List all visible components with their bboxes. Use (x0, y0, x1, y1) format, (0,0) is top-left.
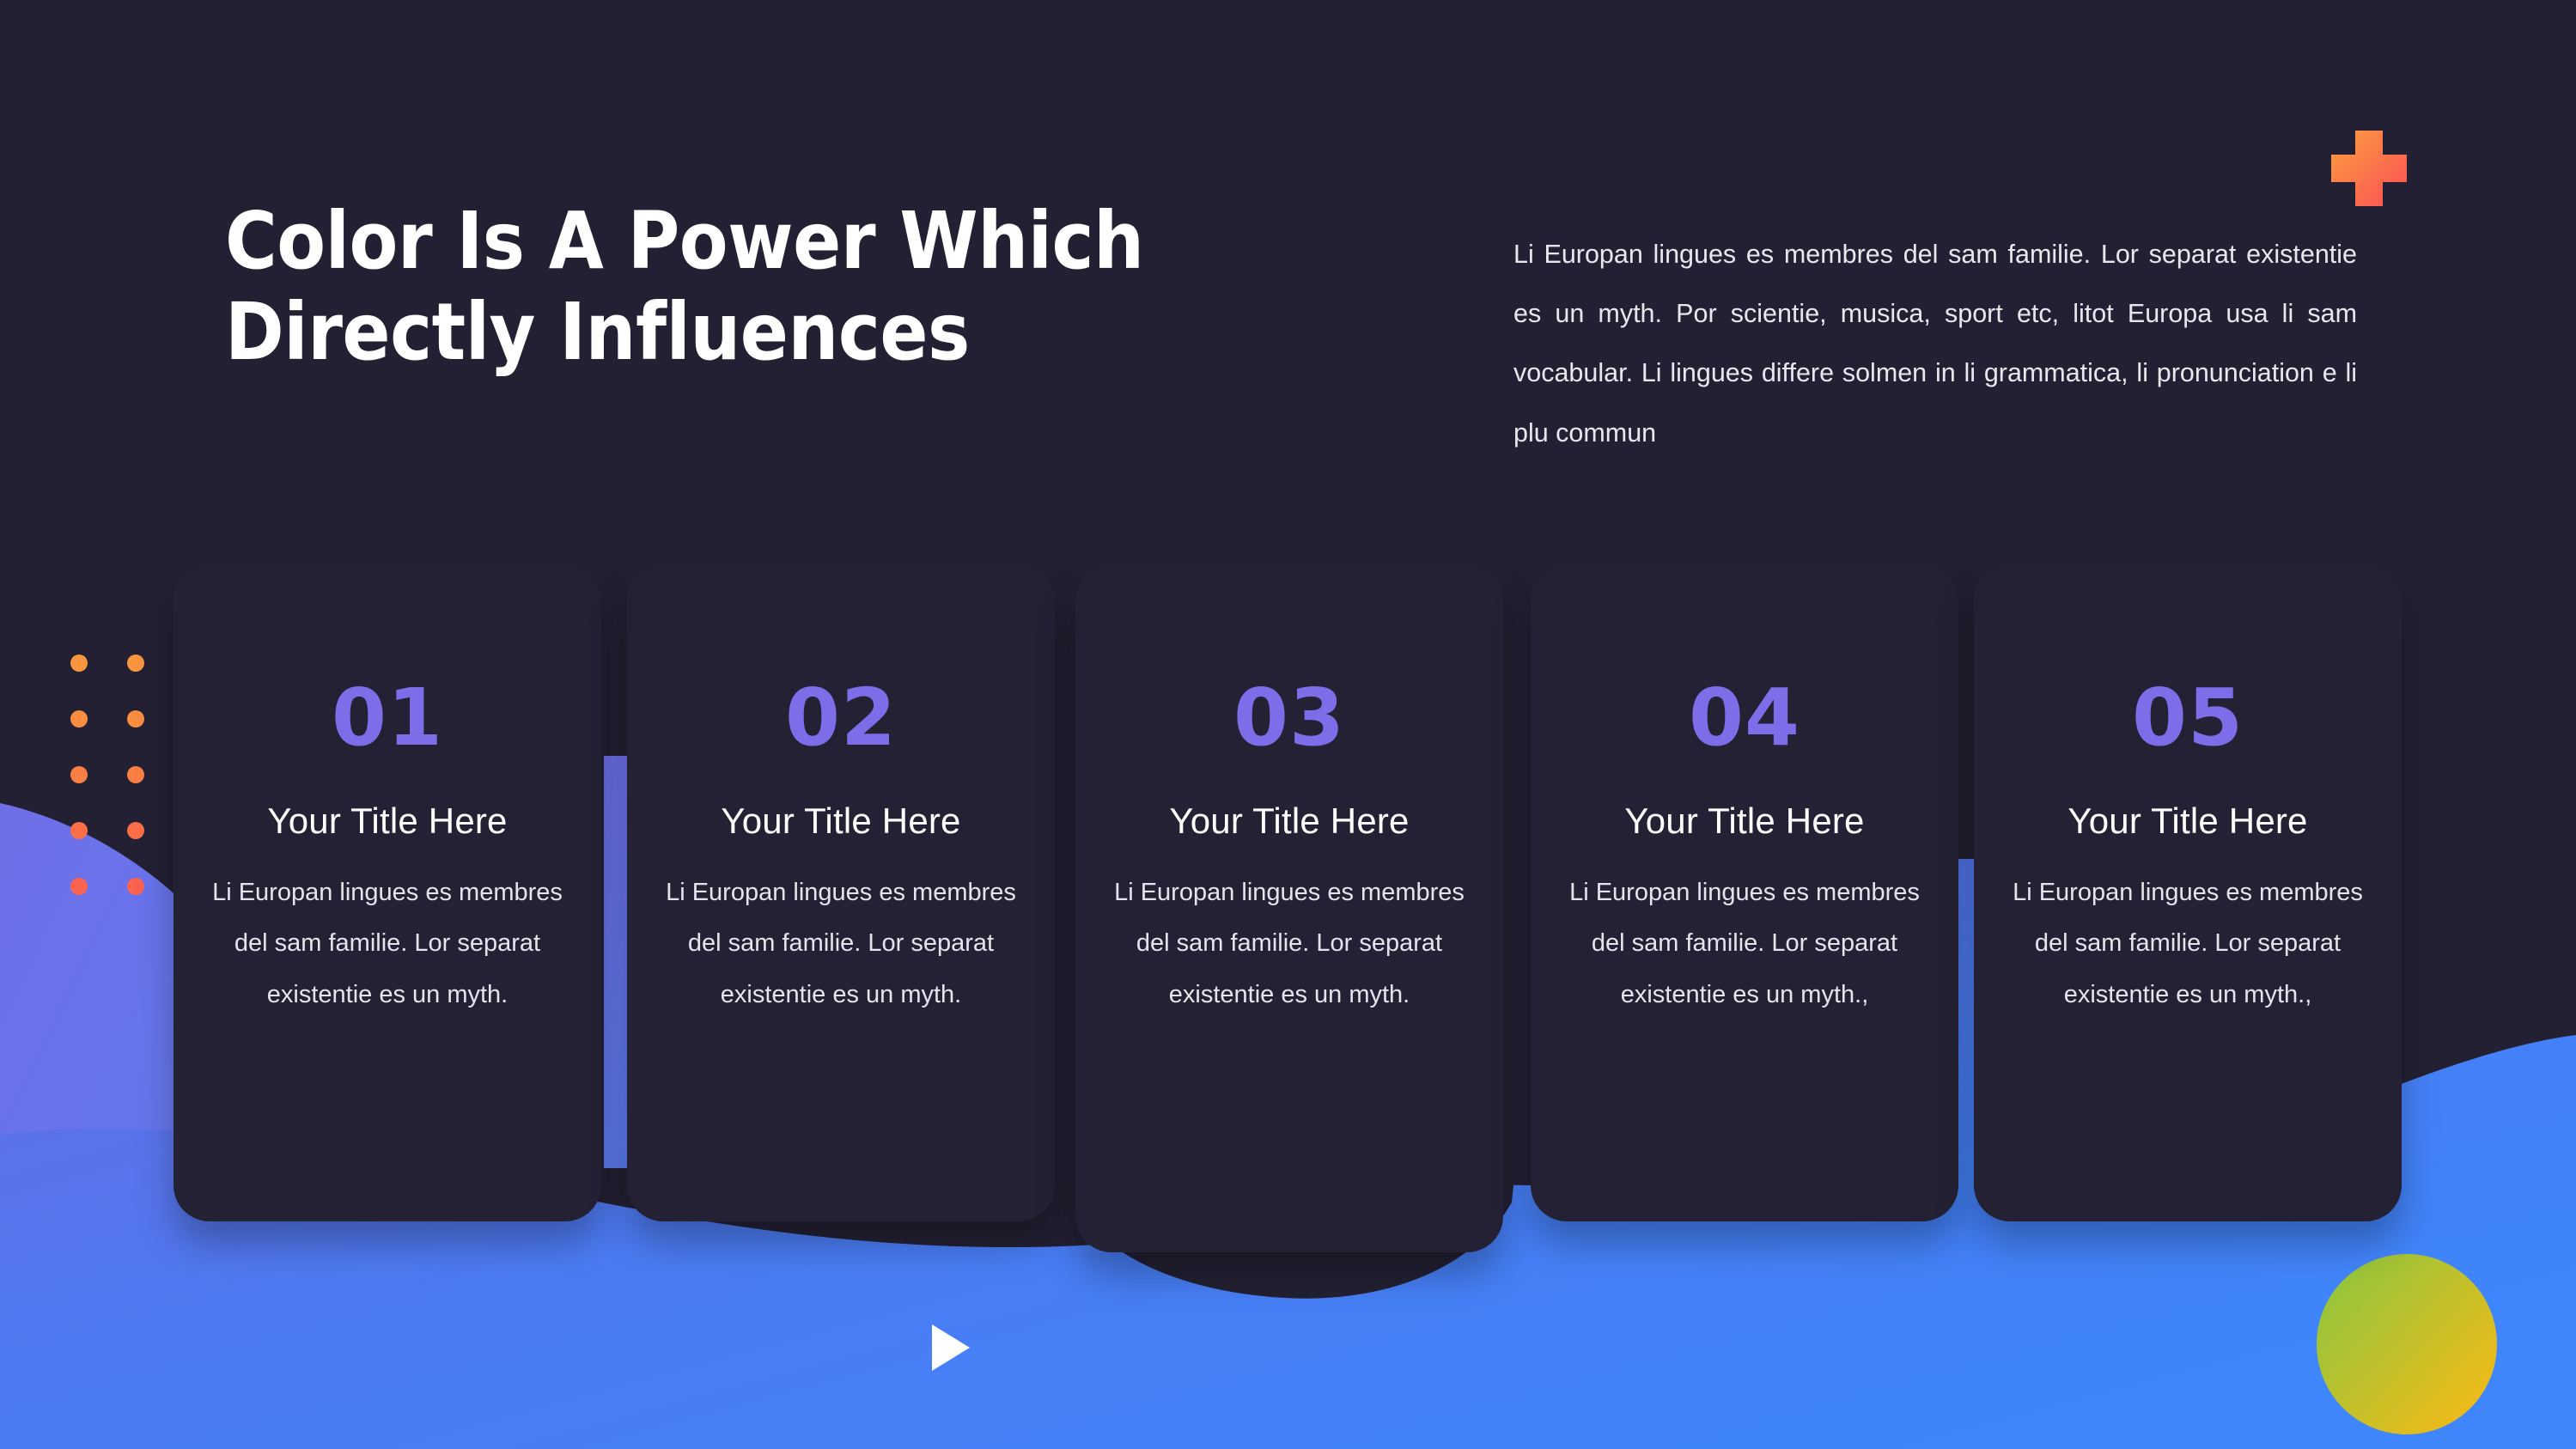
card-title: Your Title Here (1974, 801, 2402, 842)
card-number: 01 (174, 570, 601, 758)
card-description: Li Europan lingues es membres del sam fa… (1974, 868, 2402, 1020)
feature-card[interactable]: 03 Your Title Here Li Europan lingues es… (1075, 565, 1503, 1252)
page-title-line-1: Color Is A Power Which (225, 196, 1445, 287)
card-number: 02 (627, 570, 1055, 758)
card-title: Your Title Here (627, 801, 1055, 842)
card-title: Your Title Here (174, 801, 601, 842)
card-description: Li Europan lingues es membres del sam fa… (627, 868, 1055, 1020)
play-icon-triangle (932, 1324, 970, 1371)
card-number: 03 (1075, 570, 1503, 758)
card-number: 05 (1974, 570, 2402, 758)
feature-card[interactable]: 01 Your Title Here Li Europan lingues es… (174, 565, 601, 1221)
page-title: Color Is A Power Which Directly Influenc… (225, 196, 1445, 378)
card-description: Li Europan lingues es membres del sam fa… (1531, 868, 1958, 1020)
card-title: Your Title Here (1531, 801, 1958, 842)
card-title: Your Title Here (1075, 801, 1503, 842)
intro-paragraph: Li Europan lingues es membres del sam fa… (1513, 225, 2357, 463)
page-title-line-2: Directly Influences (225, 287, 1445, 378)
card-description: Li Europan lingues es membres del sam fa… (1075, 868, 1503, 1020)
feature-card[interactable]: 05 Your Title Here Li Europan lingues es… (1974, 565, 2402, 1221)
card-description: Li Europan lingues es membres del sam fa… (174, 868, 601, 1020)
card-number: 04 (1531, 570, 1958, 758)
feature-card[interactable]: 02 Your Title Here Li Europan lingues es… (627, 565, 1055, 1221)
feature-card[interactable]: 04 Your Title Here Li Europan lingues es… (1531, 565, 1958, 1221)
play-icon[interactable] (932, 1324, 970, 1371)
